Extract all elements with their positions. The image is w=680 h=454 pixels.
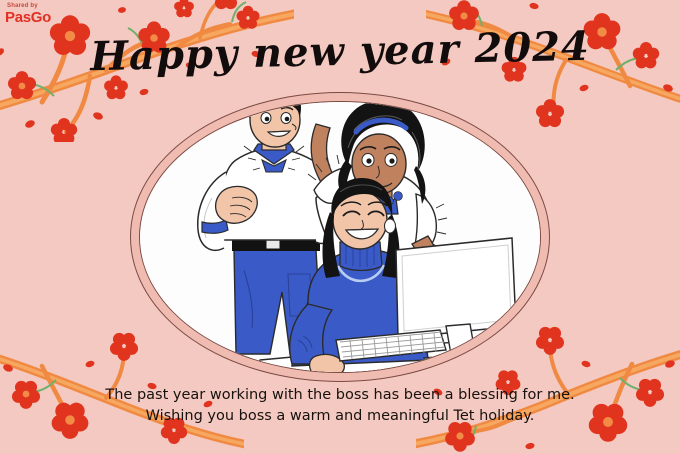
pasgo-watermark: Shared by PasGo (5, 3, 51, 25)
illustration-frame (130, 92, 550, 382)
page-title: Happy new year 2024 (0, 21, 680, 82)
watermark-brand: PasGo (5, 10, 51, 25)
greeting-message: The past year working with the boss has … (90, 385, 590, 427)
coworkers-illustration (140, 102, 541, 373)
new-year-greeting-card: Shared by PasGo Happy new year 2024 (0, 0, 680, 454)
oval-inner (139, 101, 541, 373)
